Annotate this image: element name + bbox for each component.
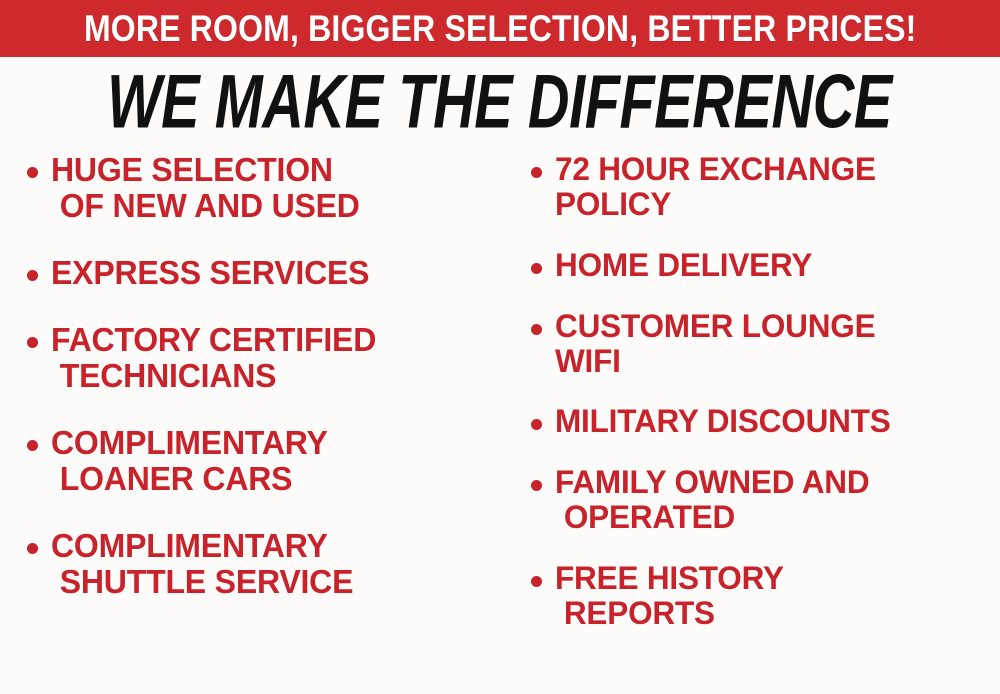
list-item: 72 HOUR EXCHANGE POLICY bbox=[522, 152, 998, 222]
list-item-line: HOME DELIVERY bbox=[555, 248, 991, 283]
list-item-line: LOANER CARS bbox=[51, 461, 483, 497]
benefits-list-left: HUGE SELECTION OF NEW AND USED EXPRESS S… bbox=[18, 152, 496, 600]
list-item: CUSTOMER LOUNGE WIFI bbox=[522, 309, 998, 379]
list-item: HUGE SELECTION OF NEW AND USED bbox=[18, 152, 496, 224]
list-item: MILITARY DISCOUNTS bbox=[522, 404, 998, 439]
list-item-line: OF NEW AND USED bbox=[51, 188, 483, 224]
headline-area: WE MAKE THE DIFFERENCE bbox=[0, 63, 1000, 141]
list-item: COMPLIMENTARY LOANER CARS bbox=[18, 425, 496, 497]
list-item-line: HUGE SELECTION bbox=[51, 152, 483, 188]
list-item-line: TECHNICIANS bbox=[51, 358, 483, 394]
list-item-line: FAMILY OWNED AND bbox=[555, 465, 991, 500]
dealership-benefits-poster: MORE ROOM, BIGGER SELECTION, BETTER PRIC… bbox=[0, 0, 1000, 694]
list-item: FAMILY OWNED AND OPERATED bbox=[522, 465, 998, 535]
list-item: FACTORY CERTIFIED TECHNICIANS bbox=[18, 322, 496, 394]
list-item-line: CUSTOMER LOUNGE bbox=[555, 309, 991, 344]
banner-headline-text: MORE ROOM, BIGGER SELECTION, BETTER PRIC… bbox=[84, 10, 917, 47]
list-item-line: POLICY bbox=[555, 187, 991, 222]
list-item-line: SHUTTLE SERVICE bbox=[51, 564, 483, 600]
list-item: EXPRESS SERVICES bbox=[18, 255, 496, 291]
list-item: COMPLIMENTARY SHUTTLE SERVICE bbox=[18, 528, 496, 600]
list-item: HOME DELIVERY bbox=[522, 248, 998, 283]
list-item-line: EXPRESS SERVICES bbox=[51, 255, 483, 291]
list-item-line: MILITARY DISCOUNTS bbox=[555, 404, 991, 439]
list-item-line: FACTORY CERTIFIED bbox=[51, 322, 483, 358]
benefits-column-left: HUGE SELECTION OF NEW AND USED EXPRESS S… bbox=[0, 152, 500, 694]
benefits-list-right: 72 HOUR EXCHANGE POLICY HOME DELIVERY CU… bbox=[522, 152, 998, 631]
page-title: WE MAKE THE DIFFERENCE bbox=[108, 64, 893, 140]
list-item-line: FREE HISTORY bbox=[555, 561, 991, 596]
list-item-line: COMPLIMENTARY bbox=[51, 528, 483, 564]
top-banner: MORE ROOM, BIGGER SELECTION, BETTER PRIC… bbox=[0, 0, 1000, 57]
list-item-line: OPERATED bbox=[555, 500, 991, 535]
list-item-line: REPORTS bbox=[555, 596, 991, 631]
list-item-line: COMPLIMENTARY bbox=[51, 425, 483, 461]
list-item-line: WIFI bbox=[555, 344, 991, 379]
benefits-columns: HUGE SELECTION OF NEW AND USED EXPRESS S… bbox=[0, 152, 1000, 694]
benefits-column-right: 72 HOUR EXCHANGE POLICY HOME DELIVERY CU… bbox=[500, 152, 1000, 694]
list-item-line: 72 HOUR EXCHANGE bbox=[555, 152, 991, 187]
list-item: FREE HISTORY REPORTS bbox=[522, 561, 998, 631]
